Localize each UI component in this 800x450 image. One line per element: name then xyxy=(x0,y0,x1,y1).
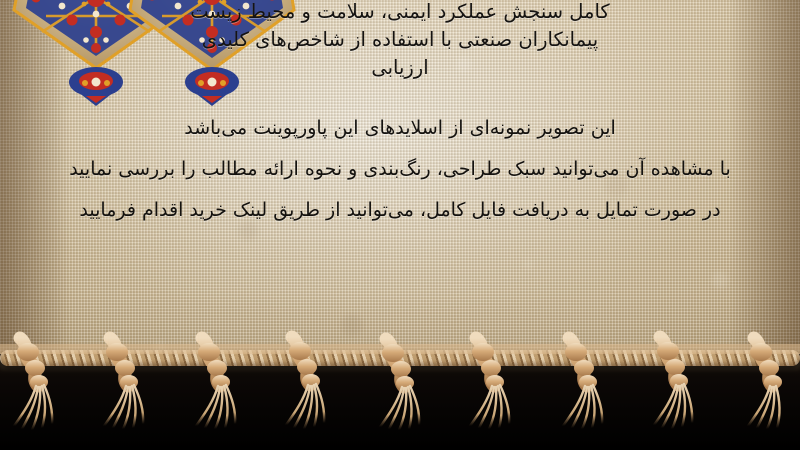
title-line-3: ارزیابی xyxy=(0,54,800,82)
carpet-bottom-band xyxy=(0,354,800,450)
slide-text-area: کامل سنجش عملکرد ایمنی، سلامت و محیط زیس… xyxy=(0,0,800,378)
body-line-2: با مشاهده آن می‌توانید سبک طراحی، رنگ‌بن… xyxy=(0,149,800,190)
slide-body-text: این تصویر نمونه‌ای از اسلایدهای این پاور… xyxy=(0,108,800,231)
title-line-2: پیمانکاران صنعتی با استفاده از شاخص‌های … xyxy=(0,26,800,54)
body-line-3: در صورت تمایل به دریافت فایل کامل، می‌تو… xyxy=(0,190,800,231)
carpet-selvedge-cord xyxy=(0,350,800,366)
slide-canvas: کامل سنجش عملکرد ایمنی، سلامت و محیط زیس… xyxy=(0,0,800,450)
body-line-1: این تصویر نمونه‌ای از اسلایدهای این پاور… xyxy=(0,108,800,149)
title-line-1: کامل سنجش عملکرد ایمنی، سلامت و محیط زیس… xyxy=(0,0,800,26)
slide-title: کامل سنجش عملکرد ایمنی، سلامت و محیط زیس… xyxy=(0,0,800,82)
